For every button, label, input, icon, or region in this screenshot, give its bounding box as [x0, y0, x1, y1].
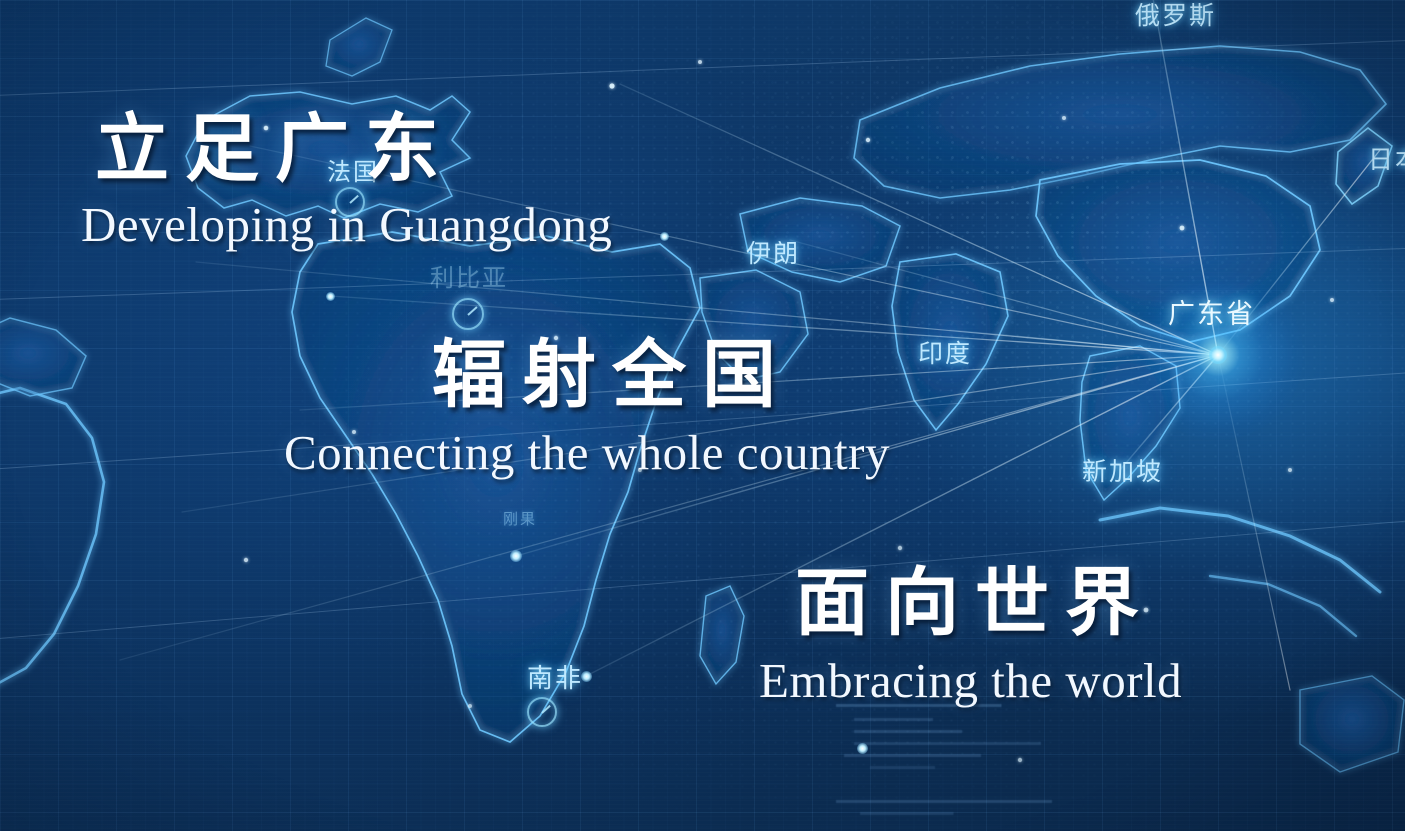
landmass-europe — [186, 92, 470, 218]
landmass-south-america — [0, 388, 104, 690]
landmass-australia — [1300, 676, 1404, 772]
landmass-africa — [292, 232, 700, 742]
landmass-north-america-edge — [0, 318, 86, 396]
landmass-china — [1036, 160, 1320, 342]
world-map-graphic — [0, 0, 1405, 831]
link-guangdong-australia — [1218, 355, 1290, 690]
decorative-code-texture — [830, 700, 1190, 831]
world-map-banner: 俄罗斯日本法国利比亚伊朗印度广东省新加坡刚果南非 立足广东 Developing… — [0, 0, 1405, 831]
landmass-madagascar — [700, 586, 744, 684]
landmass-indonesia-2 — [1210, 576, 1356, 636]
landmass-scandinavia — [326, 18, 392, 76]
landmass-arabia — [700, 270, 808, 380]
continents-layer — [0, 18, 1404, 772]
